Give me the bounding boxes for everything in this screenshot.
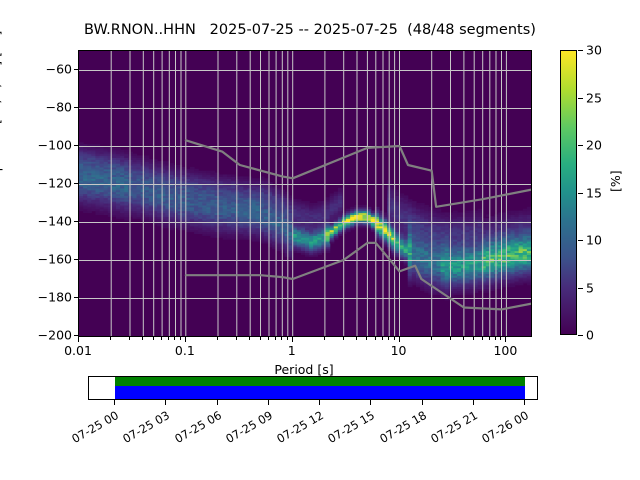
colorbar-title: [%] bbox=[608, 170, 623, 192]
y-axis-tick-label: −160 bbox=[12, 252, 72, 267]
colorbar-tick-label: 25 bbox=[586, 90, 602, 105]
y-title-post: ] [dB] bbox=[0, 31, 3, 66]
y-title-slash2: /Hz bbox=[0, 66, 3, 86]
y-axis-tick-label: −100 bbox=[12, 138, 72, 153]
y-axis-tick bbox=[74, 221, 78, 222]
x-axis-major-tick bbox=[399, 336, 400, 342]
timeline-tick-label: 07-25 03 bbox=[112, 408, 173, 451]
colorbar-tick bbox=[578, 50, 583, 51]
colorbar-tick-label: 0 bbox=[586, 328, 594, 343]
x-axis-tick-label: 10 bbox=[391, 343, 407, 358]
y-axis-tick bbox=[74, 145, 78, 146]
timeline-tick bbox=[524, 400, 525, 405]
timeline-green-band bbox=[115, 377, 525, 386]
timeline-tick bbox=[473, 400, 474, 405]
x-axis-minor-tick bbox=[268, 336, 269, 340]
colorbar-tick-label: 15 bbox=[586, 185, 602, 200]
colorbar-tick-label: 30 bbox=[586, 43, 602, 58]
colorbar-tick bbox=[578, 288, 583, 289]
x-axis-minor-tick bbox=[388, 336, 389, 340]
y-axis-tick bbox=[74, 297, 78, 298]
x-axis-minor-tick bbox=[217, 336, 218, 340]
colorbar-tick bbox=[578, 98, 583, 99]
x-axis-minor-tick bbox=[180, 336, 181, 340]
x-axis-minor-tick bbox=[489, 336, 490, 340]
colorbar-tick bbox=[578, 145, 583, 146]
timeline-tick bbox=[422, 400, 423, 405]
timeline-coverage-bar[interactable] bbox=[88, 376, 538, 400]
timeline-tick bbox=[114, 400, 115, 405]
colorbar-tick-label: 10 bbox=[586, 233, 602, 248]
x-axis-minor-tick bbox=[168, 336, 169, 340]
timeline-tick-label: 07-25 06 bbox=[163, 408, 224, 451]
y-axis-tick-label: −120 bbox=[12, 176, 72, 191]
x-axis-minor-tick bbox=[129, 336, 130, 340]
x-axis-minor-tick bbox=[142, 336, 143, 340]
y-axis-tick-label: −200 bbox=[12, 328, 72, 343]
x-axis-minor-tick bbox=[343, 336, 344, 340]
ppsd-plot-canvas bbox=[79, 51, 531, 336]
x-axis-major-tick bbox=[292, 336, 293, 342]
timeline-tick bbox=[370, 400, 371, 405]
colorbar-tick-label: 20 bbox=[586, 138, 602, 153]
timeline-tick bbox=[217, 400, 218, 405]
x-axis-minor-tick bbox=[110, 336, 111, 340]
timeline-tick-label: 07-25 15 bbox=[317, 408, 378, 451]
timeline-tick-label: 07-25 09 bbox=[214, 408, 275, 451]
y-title-unit-m: m bbox=[0, 107, 3, 119]
y-axis-tick bbox=[74, 259, 78, 260]
y-axis-tick bbox=[74, 107, 78, 108]
x-axis-tick-label: 0.1 bbox=[175, 343, 195, 358]
y-axis-tick-label: −60 bbox=[12, 62, 72, 77]
ppsd-plot-axes bbox=[78, 50, 532, 337]
x-axis-minor-tick bbox=[324, 336, 325, 340]
x-axis-minor-tick bbox=[394, 336, 395, 340]
x-axis-major-tick bbox=[185, 336, 186, 342]
x-axis-minor-tick bbox=[473, 336, 474, 340]
x-axis-major-tick bbox=[505, 336, 506, 342]
y-axis-title: Amplitude [m2/s4/Hz] [dB] bbox=[0, 31, 3, 192]
x-axis-minor-tick bbox=[161, 336, 162, 340]
colorbar-tick bbox=[578, 335, 583, 336]
x-axis-minor-tick bbox=[260, 336, 261, 340]
y-axis-tick-label: −80 bbox=[12, 100, 72, 115]
colorbar-tick bbox=[578, 193, 583, 194]
x-axis-minor-tick bbox=[500, 336, 501, 340]
timeline-tick-label: 07-25 00 bbox=[60, 408, 121, 451]
x-axis-minor-tick bbox=[236, 336, 237, 340]
x-axis-tick-label: 0.01 bbox=[64, 343, 92, 358]
x-axis-minor-tick bbox=[275, 336, 276, 340]
y-title-pre: Amplitude [ bbox=[0, 119, 3, 192]
x-axis-minor-tick bbox=[482, 336, 483, 340]
timeline-tick bbox=[319, 400, 320, 405]
x-axis-minor-tick bbox=[366, 336, 367, 340]
x-axis-minor-tick bbox=[450, 336, 451, 340]
x-axis-minor-tick bbox=[495, 336, 496, 340]
x-axis-tick-label: 100 bbox=[493, 343, 517, 358]
y-title-slash1: /s bbox=[0, 91, 3, 102]
x-axis-minor-tick bbox=[431, 336, 432, 340]
y-axis-tick-label: −140 bbox=[12, 214, 72, 229]
colorbar-tick bbox=[578, 240, 583, 241]
timeline-tick bbox=[165, 400, 166, 405]
x-axis-minor-tick bbox=[356, 336, 357, 340]
x-axis-title: Period [s] bbox=[78, 362, 530, 377]
colorbar-tick-label: 5 bbox=[586, 280, 594, 295]
page-title: BW.RNON..HHN 2025-07-25 -- 2025-07-25 (4… bbox=[0, 22, 620, 38]
timeline-blue-band bbox=[115, 386, 525, 399]
y-axis-tick bbox=[74, 69, 78, 70]
x-axis-minor-tick bbox=[153, 336, 154, 340]
y-axis-tick-label: −180 bbox=[12, 290, 72, 305]
x-axis-minor-tick bbox=[281, 336, 282, 340]
x-axis-major-tick bbox=[78, 336, 79, 342]
timeline-tick-label: 07-25 12 bbox=[265, 408, 326, 451]
x-axis-minor-tick bbox=[249, 336, 250, 340]
x-axis-minor-tick bbox=[463, 336, 464, 340]
colorbar bbox=[560, 50, 577, 335]
timeline-tick-label: 07-25 18 bbox=[368, 408, 429, 451]
x-axis-minor-tick bbox=[375, 336, 376, 340]
timeline-tick-label: 07-25 21 bbox=[419, 408, 480, 451]
x-axis-minor-tick bbox=[174, 336, 175, 340]
timeline-tick-label: 07-26 00 bbox=[470, 408, 531, 451]
x-axis-minor-tick bbox=[287, 336, 288, 340]
x-axis-tick-label: 1 bbox=[288, 343, 296, 358]
x-axis-minor-tick bbox=[382, 336, 383, 340]
timeline-tick bbox=[268, 400, 269, 405]
noise-model-curves bbox=[79, 51, 531, 336]
y-axis-tick bbox=[74, 183, 78, 184]
